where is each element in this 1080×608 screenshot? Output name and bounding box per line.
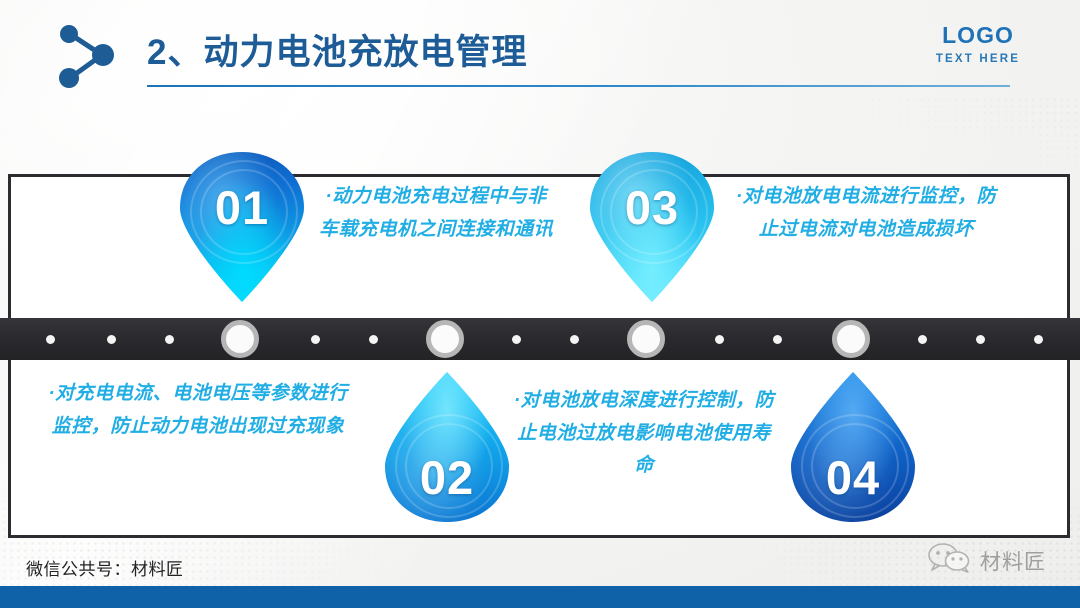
timeline-bar	[0, 318, 1080, 360]
timeline-dot	[918, 335, 927, 344]
timeline-dot	[46, 335, 55, 344]
pin-marker-03[interactable]: 03	[590, 152, 714, 302]
footer-strip	[0, 586, 1080, 608]
item-text-01: ·动力电池充电过程中与非车载充电机之间连接和通讯	[316, 181, 556, 246]
footer-text: 微信公共号：材料匠	[26, 555, 184, 580]
pin-marker-04[interactable]: 04	[791, 372, 915, 522]
item-text-02: ·对充电电流、电池电压等参数进行监控，防止动力电池出现过充现象	[48, 378, 348, 443]
timeline-dot	[311, 335, 320, 344]
item-text-03: ·对电池放电电流进行监控，防止过电流对电池造成损坏	[730, 181, 1002, 246]
timeline-node-02[interactable]	[426, 320, 464, 358]
timeline-dot	[369, 335, 378, 344]
timeline-dot	[1034, 335, 1043, 344]
page-title: 2、动力电池充放电管理	[147, 24, 527, 75]
timeline-dot	[976, 335, 985, 344]
share-network-icon	[50, 22, 122, 90]
timeline-dot	[570, 335, 579, 344]
timeline-dot	[107, 335, 116, 344]
wechat-watermark-label: 材料匠	[980, 546, 1046, 576]
logo-sub-text: TEXT HERE	[908, 53, 1048, 65]
timeline-dot	[512, 335, 521, 344]
background-dot-texture-topright	[820, 96, 1080, 166]
pin-marker-02[interactable]: 02	[385, 372, 509, 522]
timeline-node-03[interactable]	[627, 320, 665, 358]
pin-number-01: 01	[180, 180, 304, 235]
pin-marker-01[interactable]: 01	[180, 152, 304, 302]
pin-number-02: 02	[385, 450, 509, 505]
pin-number-03: 03	[590, 180, 714, 235]
timeline-dot	[165, 335, 174, 344]
slide-header: 2、动力电池充放电管理 LOGO TEXT HERE	[0, 0, 1080, 104]
presentation-slide: 2、动力电池充放电管理 LOGO TEXT HERE 01	[0, 0, 1080, 608]
item-text-04: ·对电池放电深度进行控制，防止电池过放电影响电池使用寿命	[508, 385, 780, 483]
logo: LOGO TEXT HERE	[908, 24, 1048, 65]
timeline-dot	[715, 335, 724, 344]
wechat-watermark: 材料匠	[928, 543, 1046, 578]
timeline-node-01[interactable]	[221, 320, 259, 358]
timeline-node-04[interactable]	[832, 320, 870, 358]
title-underline	[147, 85, 1010, 87]
pin-number-04: 04	[791, 450, 915, 505]
wechat-icon	[928, 543, 972, 578]
timeline-dot	[773, 335, 782, 344]
logo-main-text: LOGO	[908, 24, 1048, 47]
